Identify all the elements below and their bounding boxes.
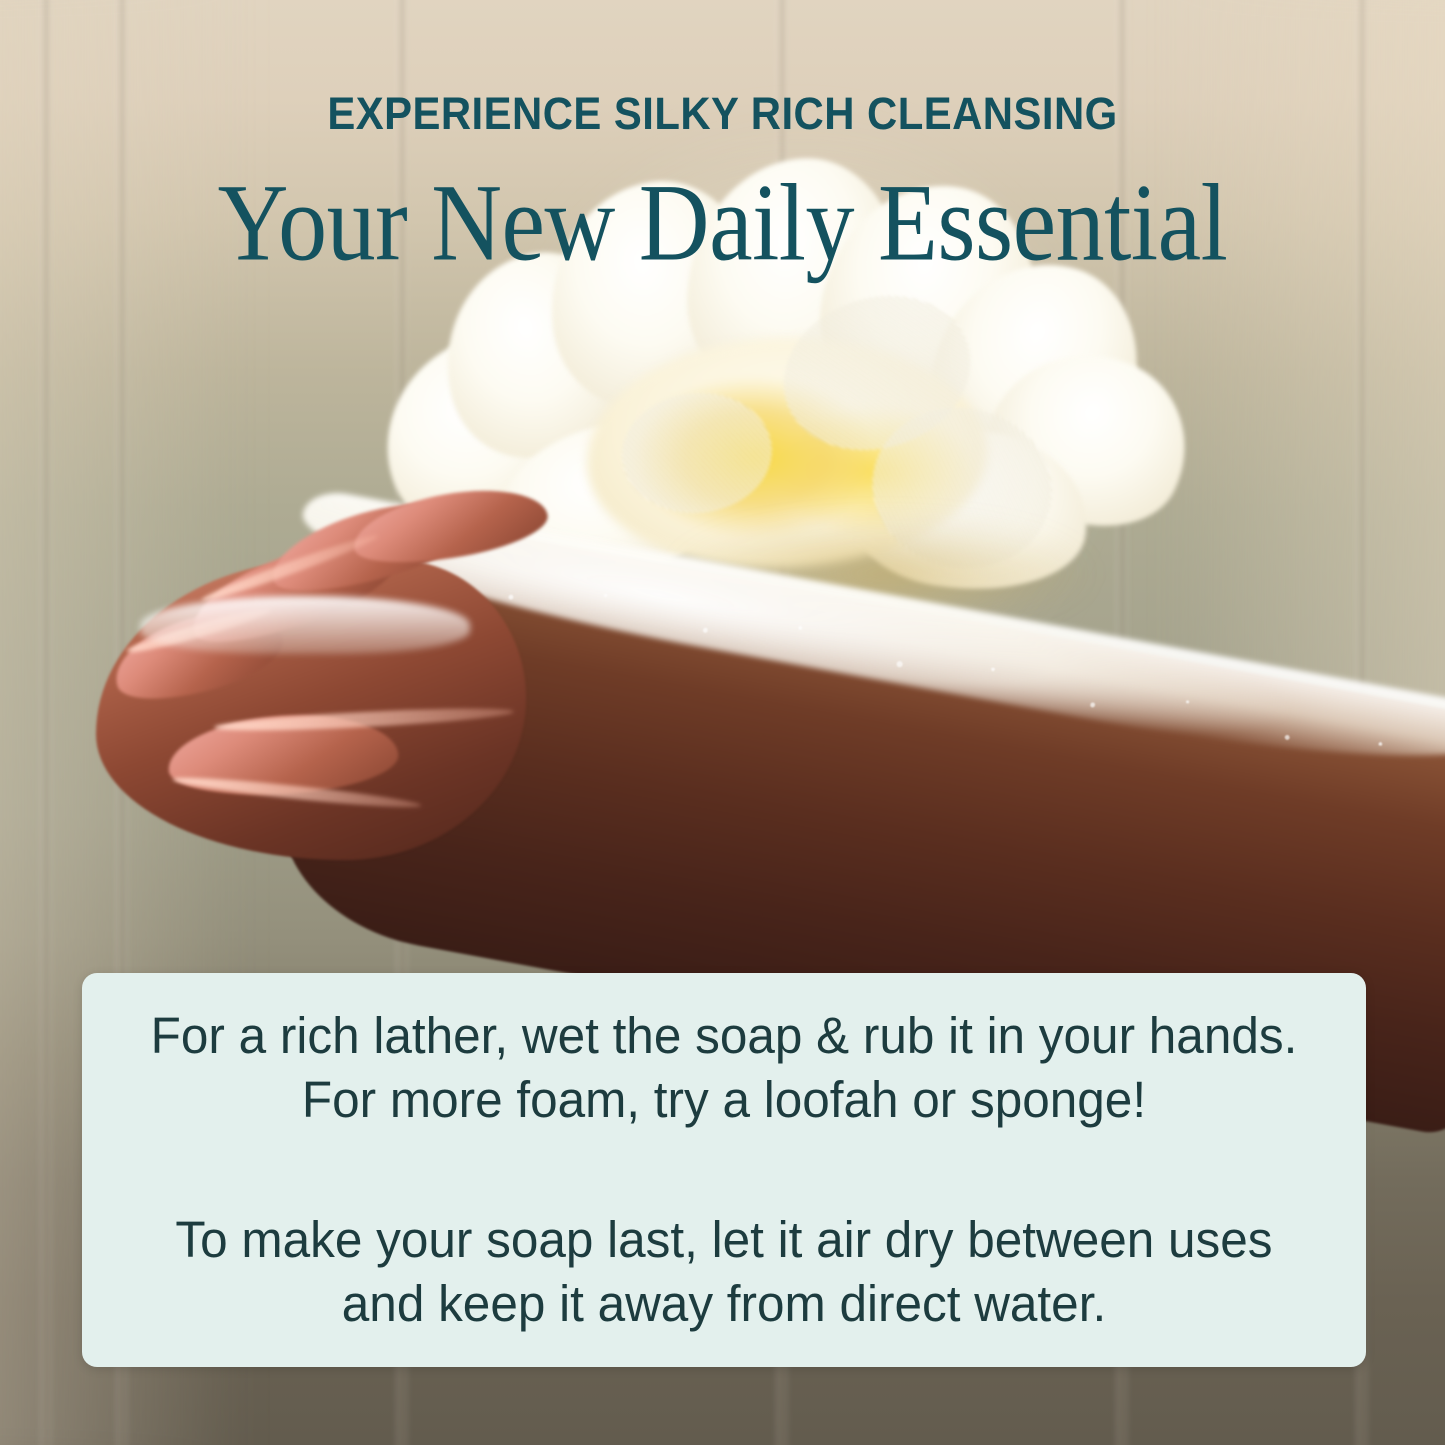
product-marketing-image: EXPERIENCE SILKY RICH CLEANSING Your New…	[0, 0, 1445, 1445]
usage-tip-storage: To make your soap last, let it air dry b…	[148, 1208, 1300, 1337]
usage-tip-lather: For a rich lather, wet the soap & rub it…	[148, 1004, 1300, 1133]
usage-tips-card: For a rich lather, wet the soap & rub it…	[82, 973, 1366, 1367]
page-title: Your New Daily Essential	[0, 166, 1445, 285]
palm-foam	[140, 596, 470, 654]
eyebrow-text: EXPERIENCE SILKY RICH CLEANSING	[51, 88, 1395, 140]
